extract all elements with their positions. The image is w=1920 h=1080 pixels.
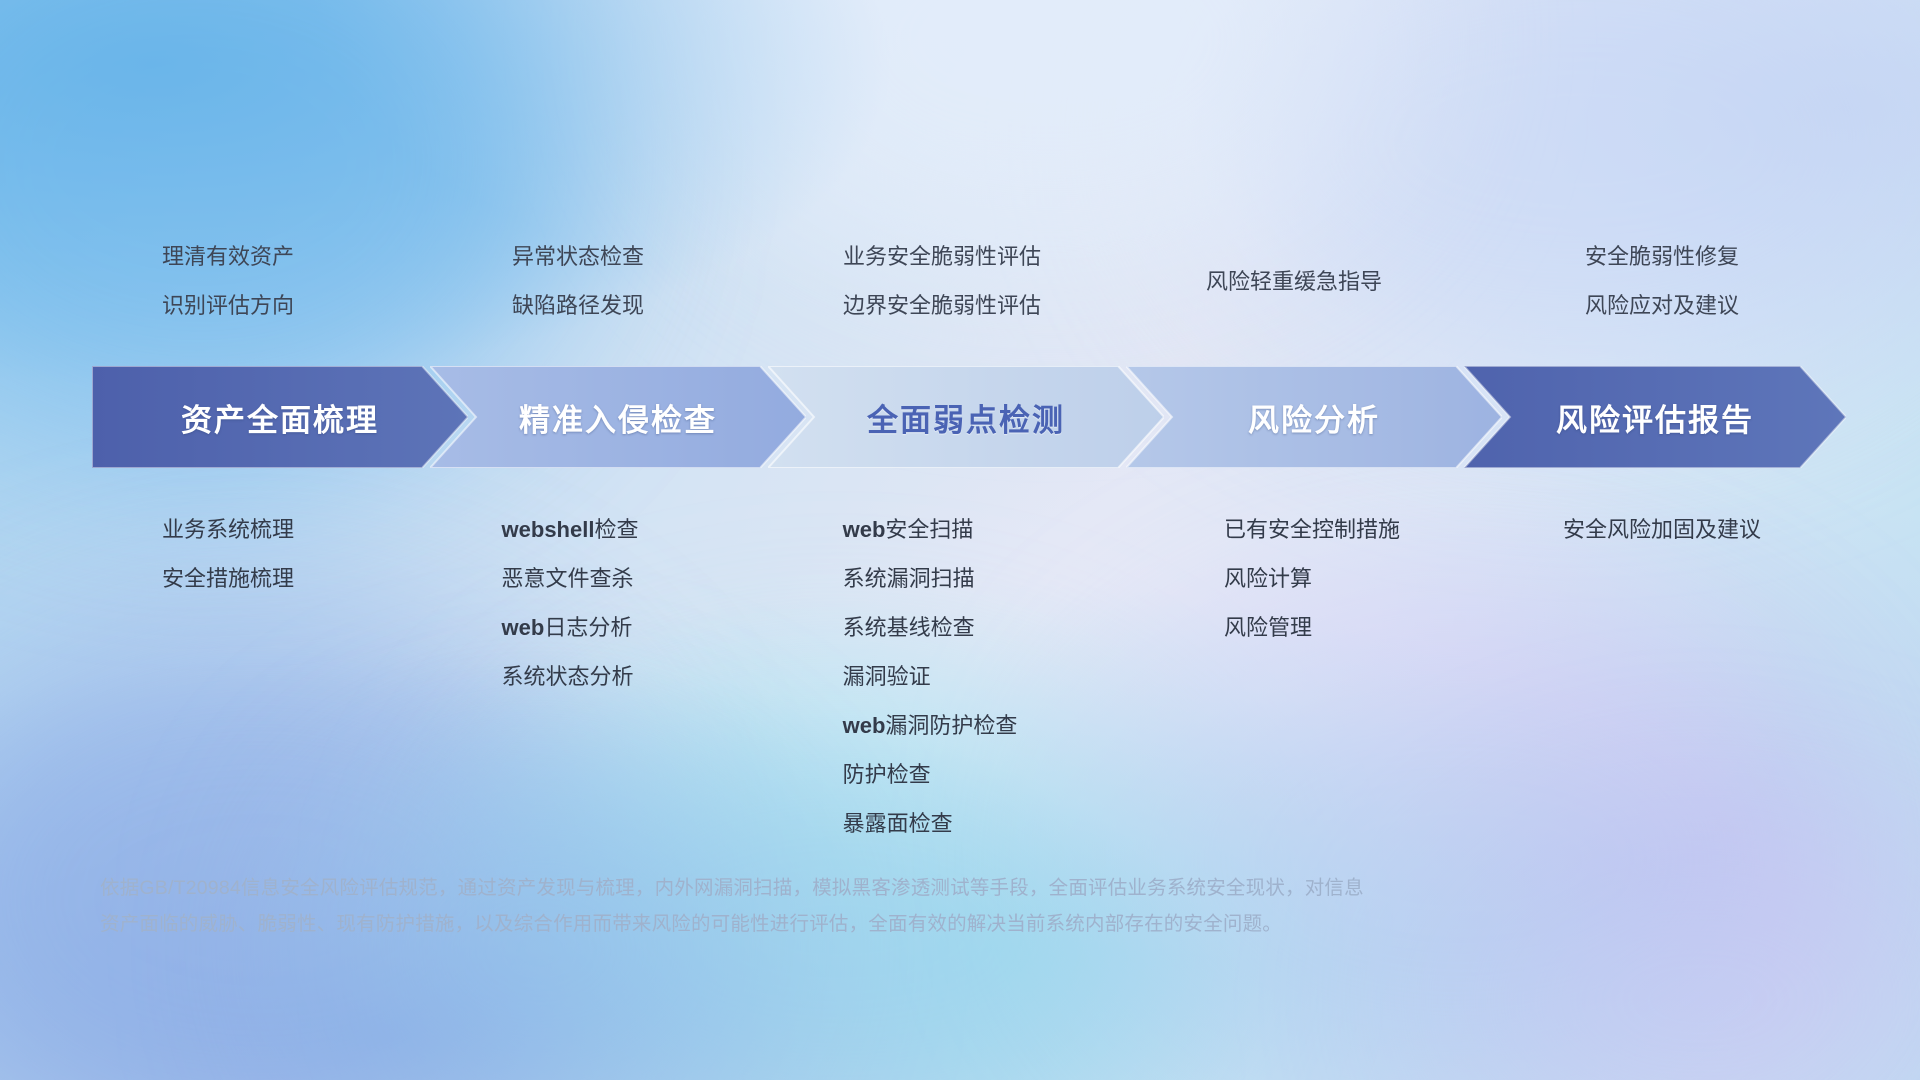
footer-line-1: 依据GB/T20984信息安全风险评估规范，通过资产发现与梳理，内外网漏洞扫描，… [100,870,1660,906]
stage-bottom-item: 安全措施梳理 [162,554,294,603]
stage-chevron-1[interactable]: 资产全面梳理 [92,366,468,468]
stage-bottom-item-emphasis: web [843,517,886,542]
stage-top-notes-3: 业务安全脆弱性评估 边界安全脆弱性评估 [843,232,1041,330]
stage-label: 风险评估报告 [1556,395,1754,440]
process-chevron-band: 资产全面梳理 精准入侵检查 [92,366,1846,468]
stage-bottom-item-rest: 检查 [594,517,638,542]
stage-bottom-item: web日志分析 [502,603,639,652]
stage-top-notes-1: 理清有效资产 识别评估方向 [162,232,294,330]
stage-bottom-item: 暴露面检查 [843,799,1018,848]
stage-bottom-item-rest: 安全扫描 [885,517,973,542]
stage-bottom-item: 风险计算 [1224,554,1400,603]
stage-label: 风险分析 [1248,395,1380,440]
stage-chevron-5[interactable]: 风险评估报告 [1464,366,1846,468]
stage-bottom-item: web漏洞防护检查 [843,701,1018,750]
stage-bottom-item: 恶意文件查杀 [502,554,639,603]
stage-label: 精准入侵检查 [519,395,717,440]
stage-bottom-item: 漏洞验证 [843,652,1018,701]
stage-top-notes-2: 异常状态检查 缺陷路径发现 [512,232,644,330]
stage-top-note: 边界安全脆弱性评估 [843,281,1041,330]
stage-top-notes-4: 风险轻重缓急指导 [1206,257,1382,306]
stage-top-note: 缺陷路径发现 [512,281,644,330]
stage-bottom-item: 系统基线检查 [843,603,1018,652]
stage-top-note: 异常状态检查 [512,232,644,281]
stage-bottom-list-5: 安全风险加固及建议 [1563,505,1761,554]
stage-bottom-item-rest: 日志分析 [544,615,632,640]
stage-top-note: 安全脆弱性修复 [1585,232,1739,281]
stage-bottom-item: webshell检查 [502,505,639,554]
stage-bottom-item: 风险管理 [1224,603,1400,652]
footer-description: 依据GB/T20984信息安全风险评估规范，通过资产发现与梳理，内外网漏洞扫描，… [100,870,1660,942]
stage-bottom-item-emphasis: web [843,713,886,738]
process-diagram: 理清有效资产 识别评估方向 异常状态检查 缺陷路径发现 业务安全脆弱性评估 边界… [0,0,1920,1080]
stage-chevron-3[interactable]: 全面弱点检测 [768,366,1164,468]
stage-bottom-item-emphasis: web [502,615,545,640]
stage-bottom-item: web安全扫描 [843,505,1018,554]
stage-bottom-item-emphasis: webshell [502,517,595,542]
footer-line-2: 资产面临的威胁、脆弱性、现有防护措施，以及综合作用而带来风险的可能性进行评估，全… [100,906,1660,942]
stage-top-note: 理清有效资产 [162,232,294,281]
stage-bottom-list-4: 已有安全控制措施 风险计算 风险管理 [1224,505,1400,652]
stage-bottom-item: 业务系统梳理 [162,505,294,554]
stage-chevron-4[interactable]: 风险分析 [1126,366,1502,468]
stage-bottom-item: 防护检查 [843,750,1018,799]
stage-bottom-list-2: webshell检查 恶意文件查杀 web日志分析 系统状态分析 [502,505,639,701]
stage-bottom-item: 安全风险加固及建议 [1563,505,1761,554]
stage-bottom-item: 系统漏洞扫描 [843,554,1018,603]
stage-bottom-item: 系统状态分析 [502,652,639,701]
stage-bottom-list-3: web安全扫描 系统漏洞扫描 系统基线检查 漏洞验证 web漏洞防护检查 防护检… [843,505,1018,848]
stage-bottom-list-1: 业务系统梳理 安全措施梳理 [162,505,294,603]
stage-top-note: 风险应对及建议 [1585,281,1739,330]
stage-label: 全面弱点检测 [867,395,1065,440]
stage-top-note: 业务安全脆弱性评估 [843,232,1041,281]
stage-label: 资产全面梳理 [181,395,379,440]
stage-top-note: 识别评估方向 [162,281,294,330]
stage-bottom-item-rest: 漏洞防护检查 [885,713,1017,738]
stage-bottom-item: 已有安全控制措施 [1224,505,1400,554]
stage-top-notes-5: 安全脆弱性修复 风险应对及建议 [1585,232,1739,330]
stage-top-note: 风险轻重缓急指导 [1206,257,1382,306]
stage-chevron-2[interactable]: 精准入侵检查 [430,366,806,468]
